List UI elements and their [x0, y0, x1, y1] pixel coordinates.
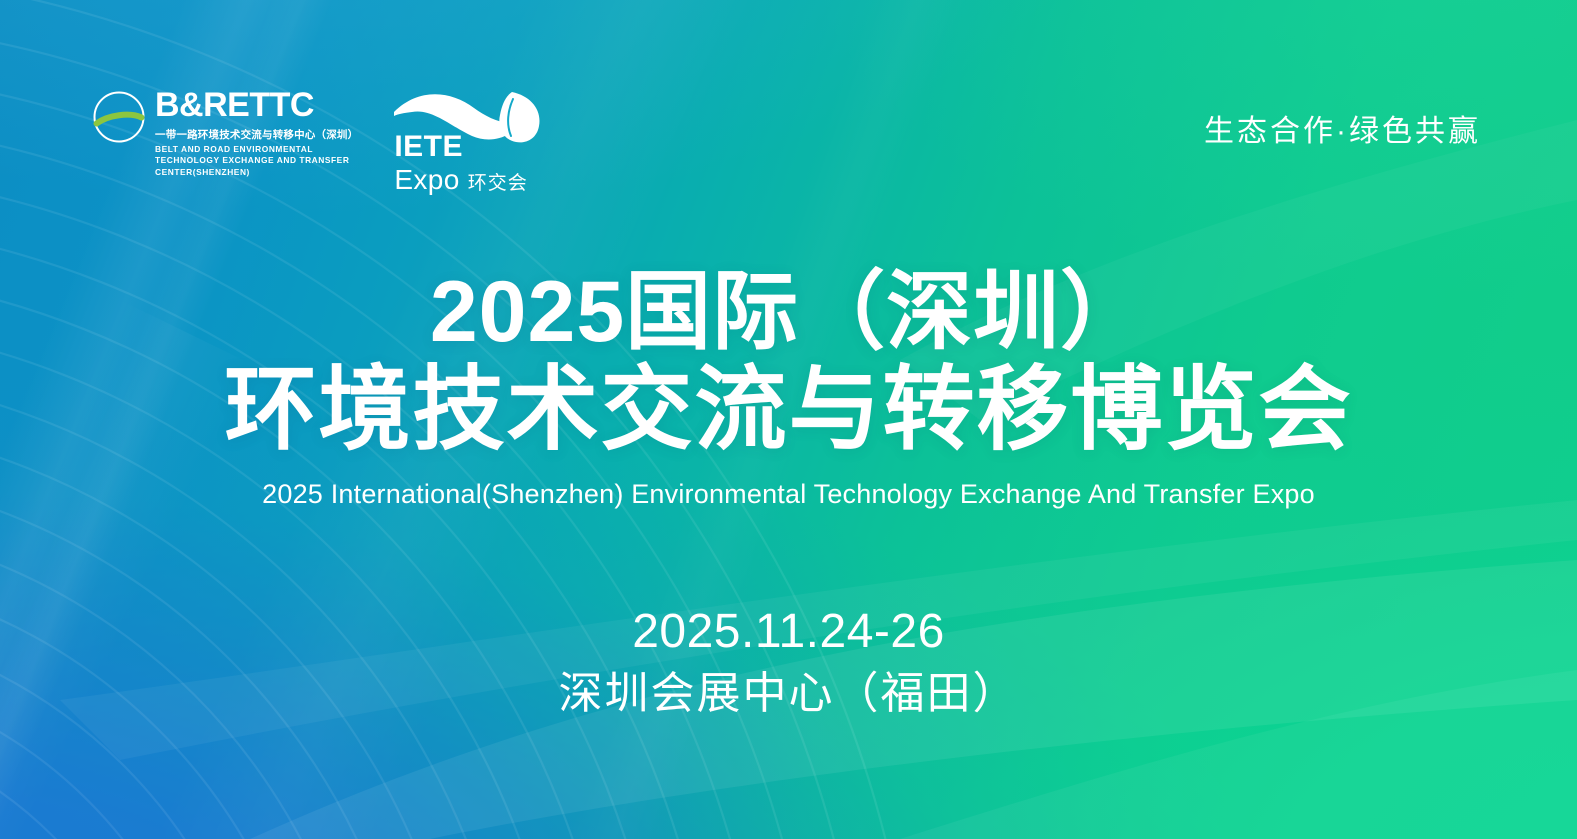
headline-block: 2025国际（深圳） 环境技术交流与转移博览会 2025 Internation… [0, 268, 1577, 510]
brettc-english-line-3: CENTER(SHENZHEN) [155, 167, 358, 178]
iete-expo-logo[interactable]: IETE Expo 环交会 [392, 88, 550, 192]
event-banner: B&RETTC 一带一路环境技术交流与转移中心（深圳） BELT AND ROA… [0, 0, 1577, 839]
event-info-block: 2025.11.24-26 深圳会展中心（福田） [0, 603, 1577, 722]
iete-text-block: IETE Expo 环交会 [394, 132, 527, 194]
title-line-2: 环境技术交流与转移博览会 [0, 363, 1577, 459]
subtitle-english: 2025 International(Shenzhen) Environment… [0, 479, 1577, 510]
iete-acronym: IETE [394, 132, 527, 162]
brettc-english-name: BELT AND ROAD ENVIRONMENTAL TECHNOLOGY E… [155, 144, 358, 178]
iete-chinese-short: 环交会 [468, 174, 528, 193]
event-date: 2025.11.24-26 [0, 603, 1577, 662]
brettc-globe-mark [92, 90, 146, 144]
brettc-logo[interactable]: B&RETTC 一带一路环境技术交流与转移中心（深圳） BELT AND ROA… [92, 88, 358, 178]
brettc-english-line-1: BELT AND ROAD ENVIRONMENTAL [155, 144, 358, 155]
logo-row: B&RETTC 一带一路环境技术交流与转移中心（深圳） BELT AND ROA… [92, 88, 550, 192]
brettc-text-block: B&RETTC 一带一路环境技术交流与转移中心（深圳） BELT AND ROA… [155, 88, 358, 178]
brettc-chinese-name: 一带一路环境技术交流与转移中心（深圳） [155, 127, 358, 142]
brettc-english-line-2: TECHNOLOGY EXCHANGE AND TRANSFER [155, 155, 358, 166]
slogan-text: 生态合作·绿色共赢 [1204, 106, 1481, 150]
brettc-wordmark: B&RETTC [155, 88, 358, 122]
title-line-1: 2025国际（深圳） [0, 268, 1577, 357]
iete-expo-word: Expo [394, 166, 459, 194]
event-venue: 深圳会展中心（福田） [0, 666, 1577, 722]
